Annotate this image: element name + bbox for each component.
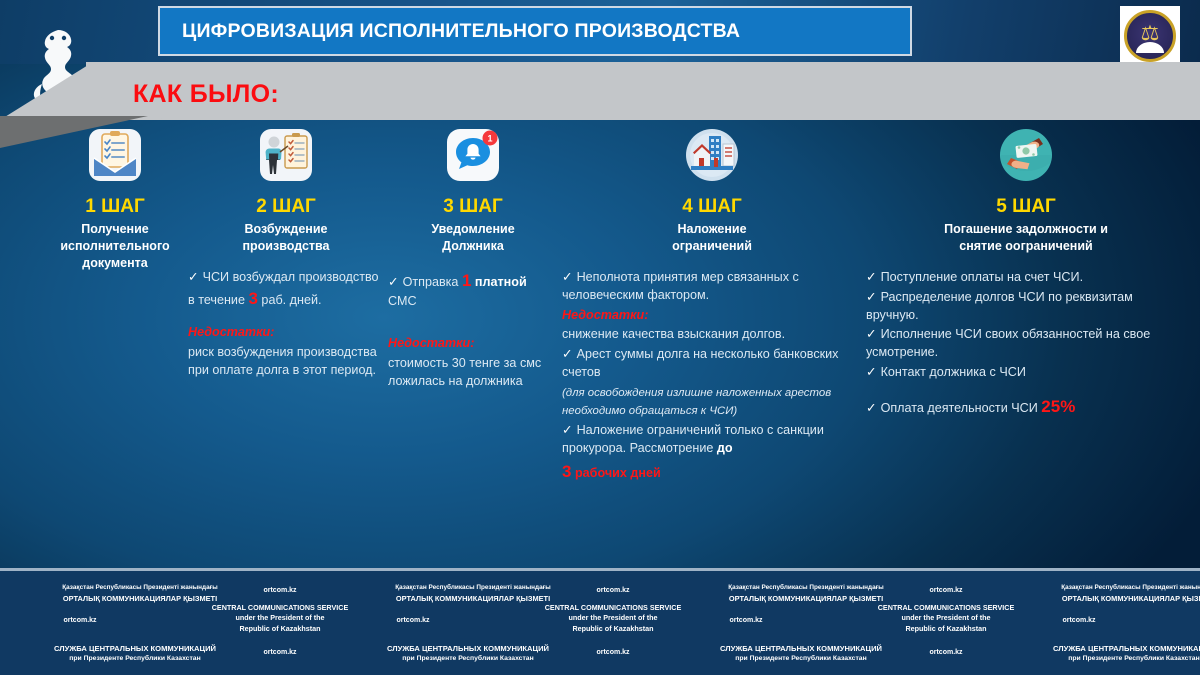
step-1-icon-wrap bbox=[40, 128, 190, 190]
text-fragment: Арест суммы долга на несколько банковски… bbox=[562, 347, 838, 379]
svg-text:1: 1 bbox=[487, 134, 492, 144]
bell-notification-icon: 1 bbox=[446, 128, 500, 182]
footer-url[interactable]: ortcom.kz bbox=[358, 617, 468, 624]
text-fragment: Наложение ограничений только с санкции п… bbox=[562, 423, 824, 455]
step-column-3: 1 3 ШАГ Уведомление Должника ✓Отправка 1… bbox=[388, 128, 558, 392]
body-line: риск возбуждения производства при оплате… bbox=[188, 344, 384, 380]
step-4-subtitle-line-1: Наложение bbox=[562, 221, 862, 238]
text-fragment: Отправка bbox=[403, 275, 462, 289]
footer-ru-block: СЛУЖБА ЦЕНТРАЛЬНЫХ КОММУНИКАЦИЙпри Прези… bbox=[984, 643, 1200, 664]
footer-en-line-1: CENTRAL COMMUNICATIONS SERVICE bbox=[130, 603, 430, 613]
text-fragment: до bbox=[717, 441, 733, 455]
step-1-subtitle: Получение исполнительного документа bbox=[40, 221, 190, 272]
text-fragment: риск возбуждения производства при оплате… bbox=[188, 345, 377, 377]
check-icon: ✓ bbox=[866, 270, 877, 284]
step-5-number: 5 ШАГ bbox=[866, 196, 1186, 218]
footer-en-line-1: CENTRAL COMMUNICATIONS SERVICE bbox=[1129, 603, 1200, 613]
text-fragment: платной bbox=[475, 275, 527, 289]
check-icon: ✓ bbox=[562, 423, 573, 437]
footer-en-line-1: CENTRAL COMMUNICATIONS SERVICE bbox=[463, 603, 763, 613]
text-fragment: Неполнота принятия мер связанных с челов… bbox=[562, 270, 799, 302]
step-5-icon-wrap bbox=[866, 128, 1186, 190]
step-4-subtitle-line-2: ограничений bbox=[562, 238, 862, 255]
step-2-subtitle: Возбуждение производства bbox=[188, 221, 384, 255]
check-icon: ✓ bbox=[866, 290, 877, 304]
drawbacks-heading: Недостатки: bbox=[188, 324, 384, 342]
step-2-subtitle-line-1: Возбуждение bbox=[188, 221, 384, 238]
spacer bbox=[188, 313, 384, 324]
body-line: стоимость 30 тенге за смс ложилась на до… bbox=[388, 355, 558, 391]
step-5-subtitle: Погашение задолжности и снятие оограниче… bbox=[866, 221, 1186, 255]
ministry-of-justice-seal-icon: ⚖ bbox=[1120, 6, 1180, 66]
drawbacks-heading: Недостатки: bbox=[562, 307, 862, 325]
step-4-icon-wrap bbox=[562, 128, 862, 190]
bullet-item: ✓Арест суммы долга на несколько банковск… bbox=[562, 346, 862, 382]
footer-url[interactable]: ortcom.kz bbox=[1024, 617, 1134, 624]
bullet-item: ✓Наложение ограничений только с санкции … bbox=[562, 422, 862, 458]
text-fragment: 25% bbox=[1041, 397, 1075, 416]
slide-title-box: ЦИФРОВИЗАЦИЯ ИСПОЛНИТЕЛЬНОГО ПРОИЗВОДСТВ… bbox=[158, 6, 912, 56]
money-exchange-icon bbox=[999, 128, 1053, 182]
step-5-subtitle-line-1: Погашение задолжности и bbox=[866, 221, 1186, 238]
step-2-body: ✓ЧСИ возбуждал производство в течение 3 … bbox=[188, 269, 384, 380]
check-icon: ✓ bbox=[188, 270, 199, 284]
body-line: снижение качества взыскания долгов. bbox=[562, 326, 862, 344]
body-line: (для освобождения излишне наложенных аре… bbox=[562, 384, 862, 420]
text-fragment: СМС bbox=[388, 294, 417, 308]
step-3-icon-wrap: 1 bbox=[388, 128, 558, 190]
text-fragment: стоимость 30 тенге за смс ложилась на до… bbox=[388, 356, 541, 388]
step-1-subtitle-line-2: исполнительного bbox=[40, 238, 190, 255]
footer-en-line-3: Republic of Kazakhstan bbox=[130, 624, 430, 634]
bullet-item: ✓Оплата деятельности ЧСИ 25% bbox=[866, 395, 1186, 419]
steps-container: 1 ШАГ Получение исполнительного документ… bbox=[0, 128, 1200, 558]
step-2-subtitle-line-2: производства bbox=[188, 238, 384, 255]
step-3-number: 3 ШАГ bbox=[388, 196, 558, 218]
text-fragment: 3 bbox=[248, 289, 257, 308]
footer-url[interactable]: ortcom.kz bbox=[225, 587, 335, 594]
text-fragment: раб. дней. bbox=[258, 293, 322, 307]
drawbacks-heading: Недостатки: bbox=[388, 335, 558, 353]
text-fragment: Поступление оплаты на счет ЧСИ. bbox=[881, 270, 1084, 284]
step-2-icon-wrap bbox=[188, 128, 384, 190]
text-fragment: (для освобождения излишне наложенных аре… bbox=[562, 387, 831, 417]
footer-kz-line1: Қазақстан Республикасы Президенті жанынд… bbox=[989, 583, 1200, 593]
person-checklist-icon bbox=[259, 128, 313, 182]
spacer bbox=[388, 324, 558, 335]
step-column-5: 5 ШАГ Погашение задолжности и снятие оог… bbox=[866, 128, 1186, 421]
text-fragment: 1 bbox=[462, 271, 471, 290]
bullet-item: ✓Контакт должника с ЧСИ bbox=[866, 364, 1186, 382]
step-3-subtitle-line-2: Должника bbox=[388, 238, 558, 255]
bullet-item: ✓ЧСИ возбуждал производство в течение 3 … bbox=[188, 269, 384, 311]
step-4-number: 4 ШАГ bbox=[562, 196, 862, 218]
step-column-4: 4 ШАГ Наложение ограничений ✓Неполнота п… bbox=[562, 128, 862, 486]
text-fragment: Контакт должника с ЧСИ bbox=[881, 365, 1026, 379]
footer-kz-block: Қазақстан Республикасы Президенті жанынд… bbox=[989, 583, 1200, 604]
text-fragment: Распределение долгов ЧСИ по реквизитам в… bbox=[866, 290, 1133, 322]
footer-watermark: Қазақстан Республикасы Президенті жанынд… bbox=[0, 568, 1200, 675]
footer-en-line-3: Republic of Kazakhstan bbox=[796, 624, 1096, 634]
check-icon: ✓ bbox=[866, 401, 877, 415]
step-column-2: 2 ШАГ Возбуждение производства ✓ЧСИ возб… bbox=[188, 128, 384, 381]
check-icon: ✓ bbox=[866, 327, 877, 341]
section-label: КАК БЫЛО: bbox=[133, 80, 279, 109]
check-icon: ✓ bbox=[562, 347, 573, 361]
bullet-item: ✓Распределение долгов ЧСИ по реквизитам … bbox=[866, 289, 1186, 325]
text-fragment: Исполнение ЧСИ своих обязанностей на сво… bbox=[866, 327, 1150, 359]
footer-en-line-2: under the President of the bbox=[1129, 613, 1200, 623]
footer-ru-line2: при Президенте Республики Казахстан bbox=[984, 654, 1200, 664]
footer-url[interactable]: ortcom.kz bbox=[558, 587, 668, 594]
footer-url[interactable]: ortcom.kz bbox=[891, 587, 1001, 594]
step-2-number: 2 ШАГ bbox=[188, 196, 384, 218]
bullet-item: ✓Отправка 1 платной СМС bbox=[388, 269, 558, 311]
body-line: 3 рабочих дней bbox=[562, 460, 862, 484]
check-icon: ✓ bbox=[388, 275, 399, 289]
text-fragment: рабочих дней bbox=[571, 466, 660, 480]
text-fragment: Оплата деятельности ЧСИ bbox=[881, 401, 1042, 415]
slide-root: ЦИФРОВИЗАЦИЯ ИСПОЛНИТЕЛЬНОГО ПРОИЗВОДСТВ… bbox=[0, 0, 1200, 675]
step-1-subtitle-line-1: Получение bbox=[40, 221, 190, 238]
footer-ru-line1: СЛУЖБА ЦЕНТРАЛЬНЫХ КОММУНИКАЦИЙ bbox=[984, 643, 1200, 654]
text-fragment: снижение качества взыскания долгов. bbox=[562, 327, 785, 341]
step-5-body: ✓Поступление оплаты на счет ЧСИ.✓Распред… bbox=[866, 269, 1186, 419]
step-4-subtitle: Наложение ограничений bbox=[562, 221, 862, 255]
spacer bbox=[866, 384, 1186, 395]
footer-url[interactable]: ortcom.kz bbox=[25, 617, 135, 624]
step-5-subtitle-line-2: снятие оограничений bbox=[866, 238, 1186, 255]
step-4-body: ✓Неполнота принятия мер связанных с чело… bbox=[562, 269, 862, 484]
footer-en-line-3: Republic of Kazakhstan bbox=[463, 624, 763, 634]
footer-en-block: CENTRAL COMMUNICATIONS SERVICEunder the … bbox=[1129, 603, 1200, 634]
check-icon: ✓ bbox=[866, 365, 877, 379]
clipboard-envelope-icon bbox=[88, 128, 142, 182]
bullet-item: ✓Поступление оплаты на счет ЧСИ. bbox=[866, 269, 1186, 287]
footer-en-line-3: Republic of Kazakhstan bbox=[1129, 624, 1200, 634]
buildings-restriction-icon bbox=[685, 128, 739, 182]
footer-url[interactable]: ortcom.kz bbox=[691, 617, 801, 624]
step-1-number: 1 ШАГ bbox=[40, 196, 190, 218]
bullet-item: ✓Исполнение ЧСИ своих обязанностей на св… bbox=[866, 326, 1186, 362]
footer-tile-grid: Қазақстан Республикасы Президенті жанынд… bbox=[0, 571, 1200, 675]
step-3-body: ✓Отправка 1 платной СМСНедостатки:стоимо… bbox=[388, 269, 558, 391]
step-column-1: 1 ШАГ Получение исполнительного документ… bbox=[40, 128, 190, 286]
page-title: ЦИФРОВИЗАЦИЯ ИСПОЛНИТЕЛЬНОГО ПРОИЗВОДСТВ… bbox=[160, 20, 740, 43]
footer-en-line-1: CENTRAL COMMUNICATIONS SERVICE bbox=[796, 603, 1096, 613]
check-icon: ✓ bbox=[562, 270, 573, 284]
step-3-subtitle-line-1: Уведомление bbox=[388, 221, 558, 238]
step-3-subtitle: Уведомление Должника bbox=[388, 221, 558, 255]
step-1-subtitle-line-3: документа bbox=[40, 255, 190, 272]
bullet-item: ✓Неполнота принятия мер связанных с чело… bbox=[562, 269, 862, 305]
spacer bbox=[388, 313, 558, 324]
